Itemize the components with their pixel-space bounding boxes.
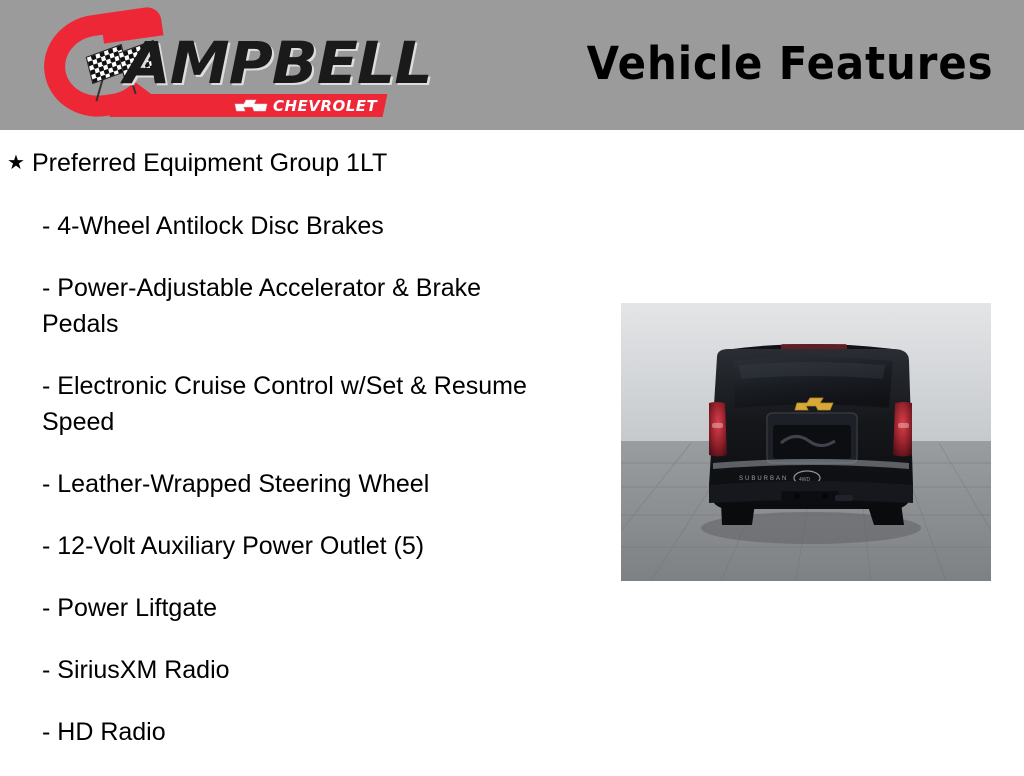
logo-brand-text: AMPBELL: [124, 34, 432, 92]
feature-item: - Power-Adjustable Accelerator & Brake P…: [42, 270, 532, 342]
feature-item: - Power Liftgate: [42, 590, 532, 626]
feature-item: - 4-Wheel Antilock Disc Brakes: [42, 208, 532, 244]
star-bullet-icon: ★: [0, 146, 32, 180]
feature-item: - SiriusXM Radio: [42, 652, 532, 688]
vehicle-photo-illustration: SUBURBAN 4WD: [621, 303, 991, 581]
feature-item: - Electronic Cruise Control w/Set & Resu…: [42, 368, 532, 440]
feature-item: - HD Radio: [42, 714, 532, 750]
feature-group-row: ★ Preferred Equipment Group 1LT: [0, 146, 560, 180]
feature-list: ★ Preferred Equipment Group 1LT - 4-Whee…: [0, 146, 560, 776]
header-bar: AMPBELL CHEVROLET Vehicle Features: [0, 0, 1024, 130]
vehicle-photo: SUBURBAN 4WD: [621, 303, 991, 581]
feature-group-label: Preferred Equipment Group 1LT: [32, 146, 387, 180]
logo-chevrolet-banner: CHEVROLET: [110, 94, 388, 117]
feature-item: - 12-Volt Auxiliary Power Outlet (5): [42, 528, 532, 564]
page-title: Vehicle Features: [586, 36, 993, 92]
feature-item: - Leather-Wrapped Steering Wheel: [42, 466, 532, 502]
logo-sub-brand-text: CHEVROLET: [273, 97, 377, 115]
chevrolet-bowtie-icon: [234, 99, 268, 112]
dealer-logo[interactable]: AMPBELL CHEVROLET: [40, 8, 385, 124]
vehicle-badge-text: SUBURBAN: [739, 476, 788, 482]
